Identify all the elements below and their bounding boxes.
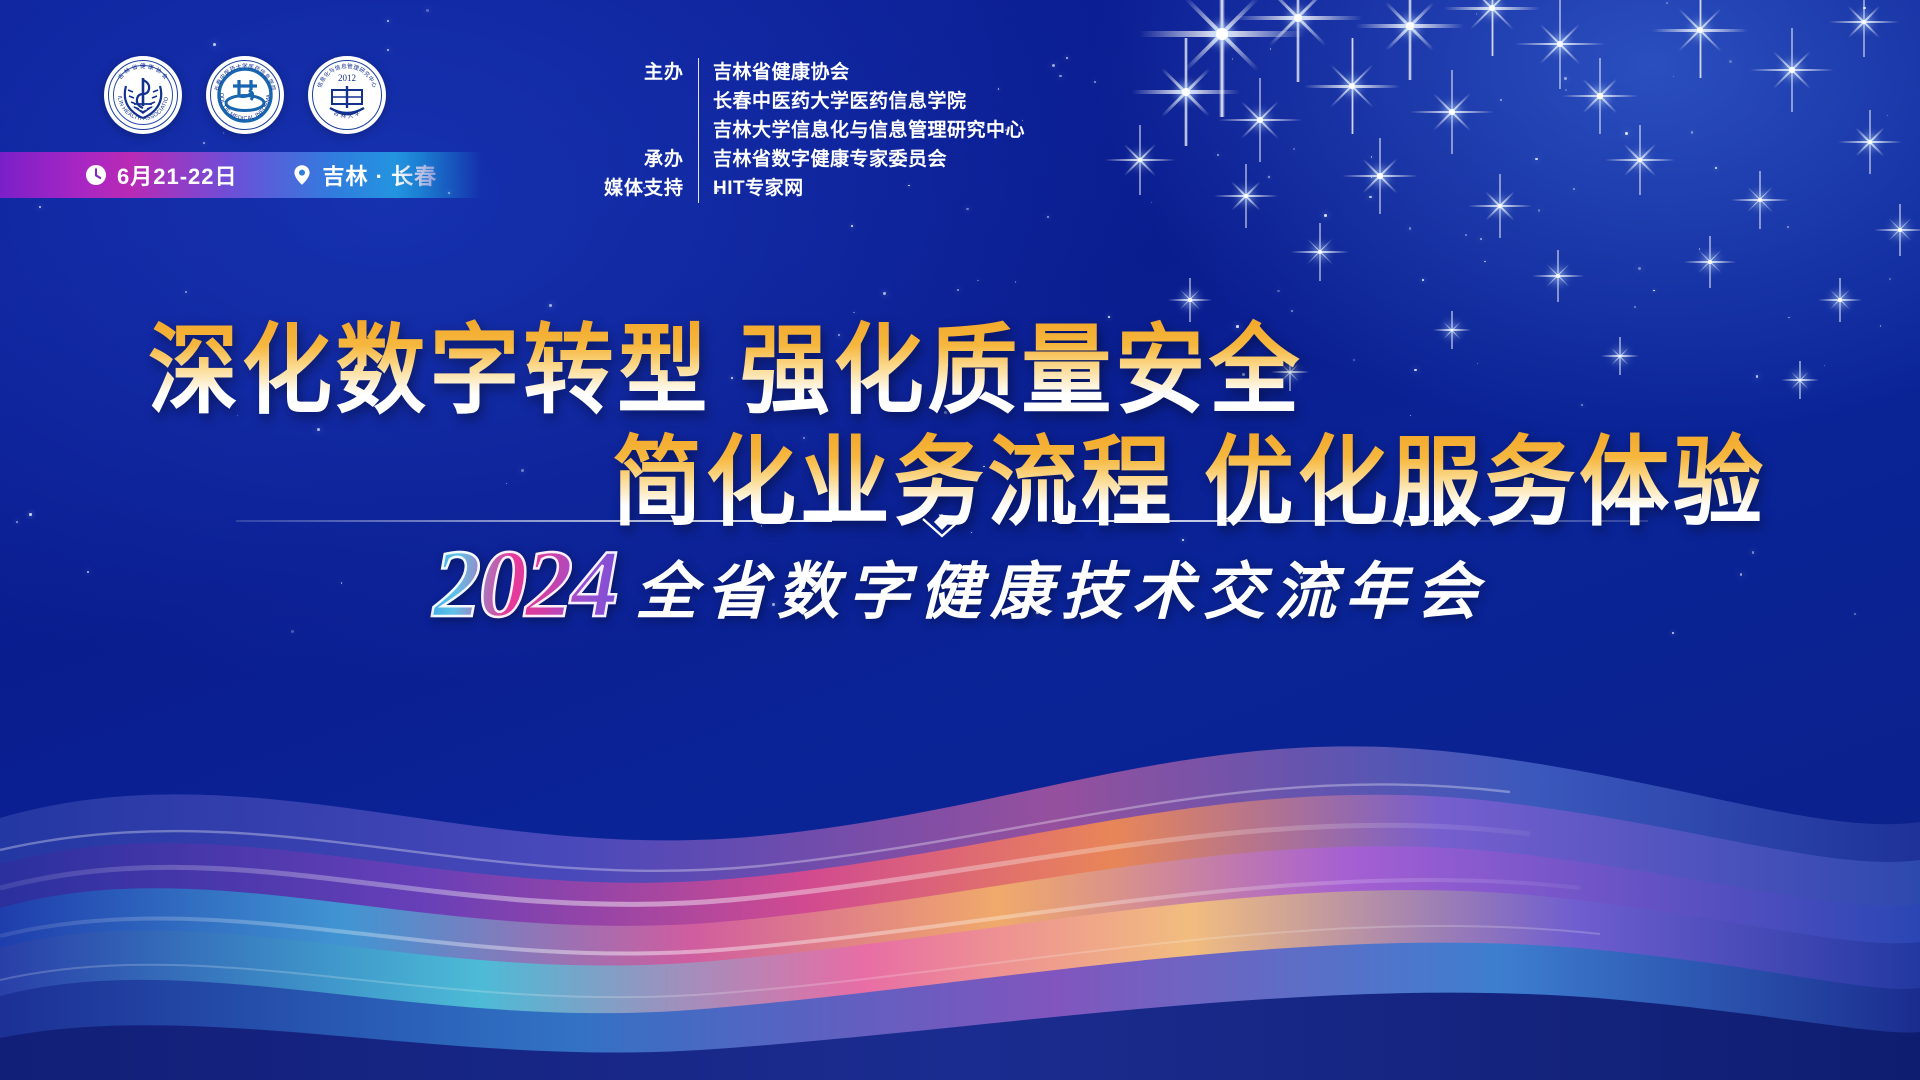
star-dot	[1409, 227, 1411, 229]
star-dot	[1666, 2, 1668, 4]
star-dot	[1277, 290, 1280, 293]
star-dot	[1052, 64, 1055, 67]
star-dot	[1634, 306, 1636, 308]
star-dot	[1371, 156, 1373, 158]
star-dot	[1691, 131, 1693, 133]
star-dot	[203, 142, 205, 144]
star-dot	[1535, 158, 1538, 161]
svg-text:长春中医药大学医药信息学院: 长春中医药大学医药信息学院	[212, 62, 277, 92]
star-dot	[1476, 13, 1477, 14]
star-dot	[1059, 75, 1061, 77]
organizer-row: 主办 吉林省健康协会	[588, 58, 1025, 87]
logo-jilin-health-association: 吉 林 省 健 康 协 会 JILIN HEALTH ASSOCIATION	[104, 56, 182, 134]
star-dot	[1500, 99, 1502, 101]
logo-ring-text: 长春中医药大学医药信息学院 SCHOOL OF MEDICAL INFORMAT…	[206, 56, 284, 134]
logo-changchun-university-of-chinese-medicine: 长春中医药大学医药信息学院 SCHOOL OF MEDICAL INFORMAT…	[206, 56, 284, 134]
star-dot	[1268, 176, 1269, 177]
organizer-label: 主办	[588, 58, 684, 87]
organizer-value: 长春中医药大学医药信息学院	[713, 87, 967, 116]
event-location-text: 吉林 · 长春	[323, 159, 438, 191]
map-pin-icon	[290, 163, 314, 187]
star-dot	[1094, 81, 1096, 83]
conference-banner: 吉 林 省 健 康 协 会 JILIN HEALTH ASSOCIATION 长…	[0, 0, 1920, 1080]
star-dot	[213, 43, 216, 46]
star-dot	[1715, 167, 1717, 169]
organizer-value: HIT专家网	[713, 174, 804, 203]
star-dot	[1787, 226, 1789, 228]
diamond-ornament-icon	[905, 512, 979, 538]
star-dot	[1371, 177, 1372, 178]
star-dot	[1699, 248, 1701, 250]
svg-text:信息化与信息管理研究中心: 信息化与信息管理研究中心	[315, 62, 378, 89]
star-dot	[883, 292, 885, 294]
star-dot	[1047, 216, 1049, 218]
star-dot	[966, 208, 968, 210]
organizer-value: 吉林省数字健康专家委员会	[713, 145, 947, 174]
star-dot	[1625, 132, 1628, 135]
organizer-value: 吉林省健康协会	[713, 58, 850, 87]
logo-jilin-university-research-center: 2012 信息化与信息管理研究中心 吉 林 大 学	[308, 56, 386, 134]
star-dot	[1538, 209, 1541, 212]
logo-ring-text: 信息化与信息管理研究中心 吉 林 大 学	[308, 56, 386, 134]
star-dot	[1672, 632, 1674, 634]
star-dot	[1480, 238, 1482, 240]
star-dot	[1324, 214, 1327, 217]
star-dot	[387, 20, 389, 22]
star-dot	[387, 49, 389, 51]
star-dot	[1422, 279, 1424, 281]
divider-line-left	[236, 520, 832, 522]
star-dot	[1465, 234, 1468, 237]
star-dot	[977, 280, 979, 282]
event-location-group: 吉林 · 长春	[290, 159, 438, 191]
main-headline: 深化数字转型 强化质量安全 简化业务流程 优化服务体验	[0, 318, 1920, 536]
star-dot	[1573, 188, 1575, 190]
organizer-label: 承办	[588, 145, 684, 174]
star-dot	[1369, 196, 1371, 198]
star-dot	[185, 291, 187, 293]
star-dot	[426, 9, 429, 12]
star-dot	[1653, 290, 1654, 291]
organizer-row: 媒体支持 HIT专家网	[588, 174, 1025, 203]
organizer-credits: 主办 吉林省健康协会 长春中医药大学医药信息学院 吉林大学信息化与信息管理研究中…	[588, 58, 1025, 203]
star-dot	[1564, 77, 1567, 80]
star-dot	[1673, 76, 1674, 77]
organizer-divider	[698, 116, 699, 145]
logo-ring-text: 吉 林 省 健 康 协 会 JILIN HEALTH ASSOCIATION	[104, 56, 182, 134]
event-year: 2024	[433, 536, 617, 632]
svg-text:吉 林 省 健 康 协 会: 吉 林 省 健 康 协 会	[117, 62, 170, 81]
event-subtitle: 全省数字健康技术交流年会	[635, 562, 1487, 632]
star-dot	[853, 312, 855, 314]
headline-line-1: 深化数字转型 强化质量安全	[148, 318, 1778, 424]
decorative-wave-ribbons	[0, 650, 1920, 1080]
star-dot	[1863, 7, 1865, 9]
star-dot	[1887, 115, 1888, 116]
star-dot	[1217, 154, 1219, 156]
event-title-line: 2024 全省数字健康技术交流年会	[0, 536, 1920, 632]
star-dot	[1889, 278, 1891, 280]
wave-svg	[0, 650, 1920, 1080]
star-dot	[1270, 48, 1272, 50]
event-meta-bar: 6月21-22日 吉林 · 长春	[0, 152, 482, 198]
clock-icon	[84, 163, 108, 187]
star-dot	[1291, 310, 1293, 312]
organizer-row: 承办 吉林省数字健康专家委员会	[588, 145, 1025, 174]
organizer-divider	[698, 174, 699, 203]
star-dot	[1151, 202, 1152, 203]
star-dot	[1638, 267, 1641, 270]
organizer-row: 吉林大学信息化与信息管理研究中心	[588, 116, 1025, 145]
star-dot	[549, 304, 552, 307]
organizer-divider	[698, 145, 699, 174]
star-dot	[1293, 148, 1295, 150]
organizer-row: 长春中医药大学医药信息学院	[588, 87, 1025, 116]
star-dot	[1066, 57, 1068, 59]
event-date-text: 6月21-22日	[117, 159, 238, 191]
organizer-divider	[698, 58, 699, 87]
svg-text:吉 林 大 学: 吉 林 大 学	[332, 108, 362, 120]
star-dot	[957, 289, 959, 291]
organizer-divider	[698, 87, 699, 116]
star-dot	[851, 225, 853, 227]
organizer-logo-group: 吉 林 省 健 康 协 会 JILIN HEALTH ASSOCIATION 长…	[104, 56, 386, 134]
organizer-value: 吉林大学信息化与信息管理研究中心	[713, 116, 1025, 145]
divider-line-right	[1052, 520, 1648, 522]
star-dot	[1729, 60, 1732, 63]
star-dot	[39, 206, 41, 208]
star-dot	[1015, 281, 1016, 282]
star-dot	[1232, 58, 1234, 60]
event-date-group: 6月21-22日	[84, 159, 238, 191]
organizer-label: 媒体支持	[588, 174, 684, 203]
star-dot	[1484, 261, 1486, 263]
star-dot	[1565, 89, 1567, 91]
